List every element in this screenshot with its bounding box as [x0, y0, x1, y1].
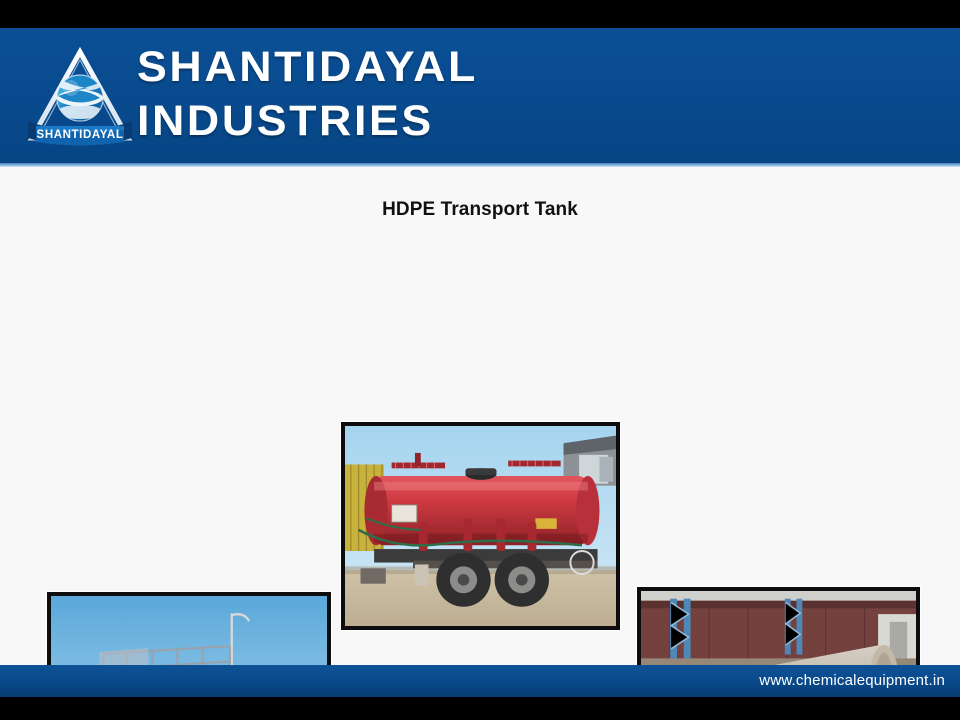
brand-line-2: INDUSTRIES	[137, 94, 865, 148]
slide-body: HDPE Transport Tank	[0, 167, 960, 665]
company-logo: SHANTIDAYAL	[22, 42, 138, 152]
logo-ribbon-text: SHANTIDAYAL	[37, 129, 124, 141]
letterbox-bottom	[0, 697, 960, 720]
page-header: SHANTIDAYAL SHANTIDAYAL INDUSTRIES	[0, 28, 960, 163]
letterbox-top	[0, 0, 960, 28]
website-url[interactable]: www.chemicalequipment.in	[759, 665, 945, 697]
page-title: HDPE Transport Tank	[0, 199, 960, 221]
brand-wordmark: SHANTIDAYAL INDUSTRIES	[137, 40, 837, 148]
page-footer: www.chemicalequipment.in	[0, 665, 960, 697]
slide-canvas: SHANTIDAYAL SHANTIDAYAL INDUSTRIES HDPE …	[0, 0, 960, 720]
brand-line-1: SHANTIDAYAL	[137, 40, 865, 94]
photo-red-hdpe-transport-tank-on-truck	[341, 422, 620, 630]
